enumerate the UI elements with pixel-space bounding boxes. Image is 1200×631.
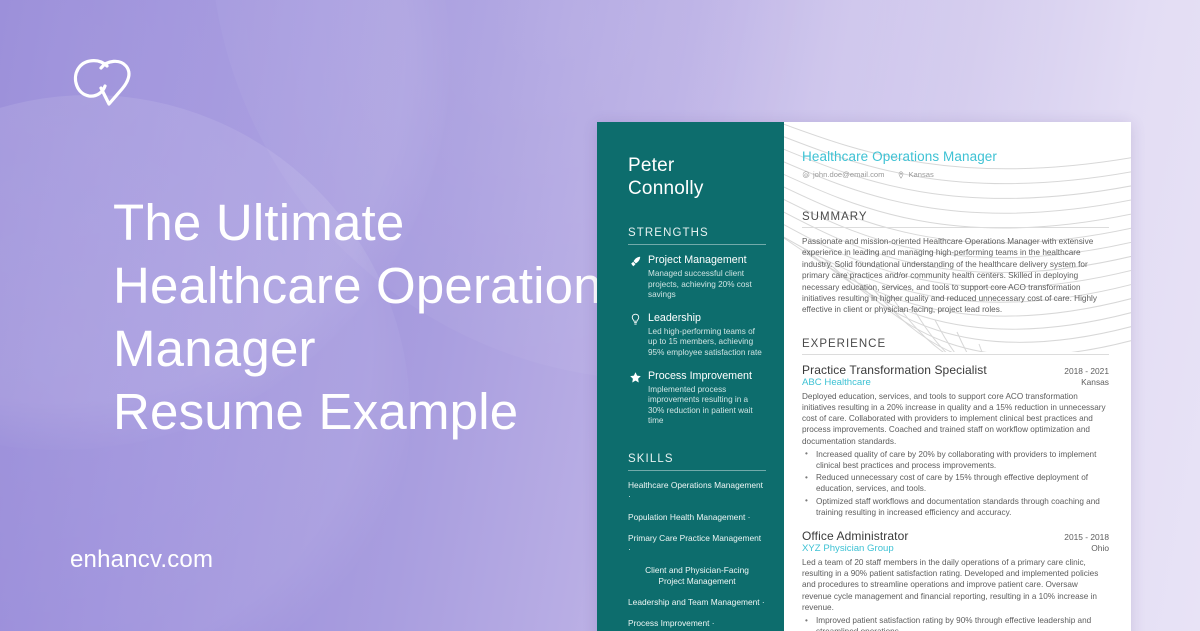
resume-preview-page[interactable]: Peter Connolly STRENGTHS Project Managem… xyxy=(597,122,1131,631)
enhancv-resume-example-banner: The Ultimate Healthcare Operation Manage… xyxy=(0,0,1200,631)
candidate-last-name: Connolly xyxy=(628,177,766,200)
resume-main-column: Healthcare Operations Manager john.doe@e… xyxy=(784,122,1131,631)
strength-item: Project Management Managed successful cl… xyxy=(628,254,766,301)
experience-company[interactable]: XYZ Physician Group xyxy=(802,543,894,554)
lightbulb-icon xyxy=(628,313,643,326)
experience-role: Practice Transformation Specialist xyxy=(802,363,987,377)
experience-location: Kansas xyxy=(1081,377,1109,387)
summary-text: Passionate and mission-oriented Healthca… xyxy=(802,236,1109,316)
experience-entry-header: Office Administrator 2015 - 2018 xyxy=(802,529,1109,543)
strength-description: Led high-performing teams of up to 15 me… xyxy=(648,327,766,359)
skill-item: Population Health Management · xyxy=(628,512,766,523)
experience-bullets: Increased quality of care by 20% by coll… xyxy=(802,449,1109,518)
experience-bullet: Reduced unnecessary cost of care by 15% … xyxy=(802,472,1109,494)
strength-item: Process Improvement Implemented process … xyxy=(628,370,766,427)
experience-location: Ohio xyxy=(1091,543,1109,553)
strengths-heading: STRENGTHS xyxy=(628,227,766,239)
hero-line-1: The Ultimate xyxy=(113,191,673,254)
strength-title: Project Management xyxy=(648,254,766,267)
experience-entry-subheader: XYZ Physician Group Ohio xyxy=(802,543,1109,554)
contact-email-value: john.doe@email.com xyxy=(813,170,884,179)
site-url-label: enhancv.com xyxy=(70,546,213,574)
experience-bullet: Improved patient satisfaction rating by … xyxy=(802,615,1109,631)
summary-heading: SUMMARY xyxy=(802,211,1109,223)
hero-line-3: Manager xyxy=(113,317,673,380)
experience-heading: EXPERIENCE xyxy=(802,338,1109,350)
star-icon xyxy=(628,371,643,384)
hero-line-2: Healthcare Operation xyxy=(113,254,673,317)
strength-description: Managed successful client projects, achi… xyxy=(648,269,766,301)
location-pin-icon xyxy=(897,171,905,179)
email-at-icon xyxy=(802,171,810,179)
resume-sidebar: Peter Connolly STRENGTHS Project Managem… xyxy=(597,122,784,631)
experience-dates: 2018 - 2021 xyxy=(1064,366,1109,376)
experience-paragraph: Deployed education, services, and tools … xyxy=(802,391,1109,447)
contact-location-value: Kansas xyxy=(908,170,933,179)
strength-title: Process Improvement xyxy=(648,370,766,383)
experience-company[interactable]: ABC Healthcare xyxy=(802,377,871,388)
contact-email: john.doe@email.com xyxy=(802,170,884,179)
experience-bullets: Improved patient satisfaction rating by … xyxy=(802,615,1109,631)
skill-item: Leadership and Team Management · xyxy=(628,597,766,608)
experience-role: Office Administrator xyxy=(802,529,908,543)
resume-headline: Healthcare Operations Manager xyxy=(802,149,1109,164)
strength-description: Implemented process improvements resulti… xyxy=(648,385,766,427)
experience-divider xyxy=(802,354,1109,355)
summary-divider xyxy=(802,227,1109,228)
strength-item: Leadership Led high-performing teams of … xyxy=(628,312,766,359)
skill-item: Healthcare Operations Management · xyxy=(628,480,766,502)
skills-heading: SKILLS xyxy=(628,453,766,465)
rocket-icon xyxy=(628,255,643,268)
skill-item: Client and Physician-Facing Project Mana… xyxy=(628,565,766,587)
experience-paragraph: Led a team of 20 staff members in the da… xyxy=(802,557,1109,613)
candidate-first-name: Peter xyxy=(628,154,766,177)
candidate-name: Peter Connolly xyxy=(628,154,766,200)
experience-bullet: Increased quality of care by 20% by coll… xyxy=(802,449,1109,471)
skill-item: Process Improvement · xyxy=(628,618,766,629)
contact-row: john.doe@email.com Kansas xyxy=(802,170,1109,179)
skills-divider xyxy=(628,470,766,471)
strengths-divider xyxy=(628,244,766,245)
contact-location: Kansas xyxy=(897,170,933,179)
hero-headline: The Ultimate Healthcare Operation Manage… xyxy=(113,191,673,443)
experience-entry: Office Administrator 2015 - 2018 XYZ Phy… xyxy=(802,529,1109,631)
hero-line-4: Resume Example xyxy=(113,380,673,443)
experience-entry: Practice Transformation Specialist 2018 … xyxy=(802,363,1109,518)
experience-entry-header: Practice Transformation Specialist 2018 … xyxy=(802,363,1109,377)
skill-item: Primary Care Practice Management · xyxy=(628,533,766,555)
enhancv-logo-icon xyxy=(68,56,144,108)
experience-entry-subheader: ABC Healthcare Kansas xyxy=(802,377,1109,388)
experience-dates: 2015 - 2018 xyxy=(1064,532,1109,542)
spacer xyxy=(628,438,766,453)
experience-bullet: Optimized staff workflows and documentat… xyxy=(802,496,1109,518)
strength-title: Leadership xyxy=(648,312,766,325)
